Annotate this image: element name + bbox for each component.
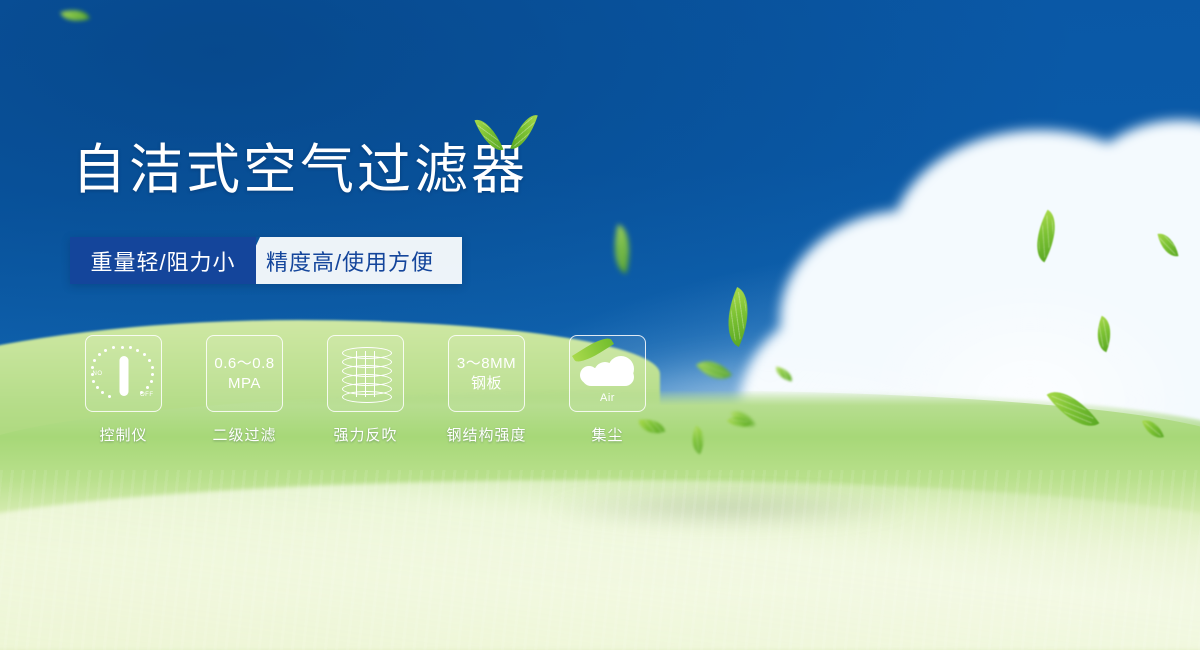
- feature-text-line1: 3～8MM: [457, 354, 516, 373]
- feature-item-dust[interactable]: Air 集尘: [565, 335, 650, 445]
- product-banner: 自洁式空气过滤器 重量轻/阻力小 精度高/使用方便: [0, 0, 1200, 650]
- feature-list: NO OFF 控制仪 0.6～0.8 MPA 二级过滤: [81, 335, 650, 445]
- feature-box: Air: [569, 335, 646, 412]
- feature-label: 控制仪: [99, 424, 147, 445]
- feature-text-line2: 钢板: [457, 374, 516, 393]
- feature-text-line1: 0.6～0.8: [214, 354, 274, 373]
- feature-box: NO OFF: [85, 335, 162, 412]
- grass-texture: [0, 470, 1200, 650]
- feature-item-backblow[interactable]: 强力反吹: [323, 335, 408, 445]
- gauge-off-label: OFF: [140, 392, 154, 398]
- feature-box-text: 0.6～0.8 MPA: [214, 354, 274, 392]
- air-label: Air: [578, 392, 638, 404]
- feature-label: 二级过滤: [212, 424, 276, 445]
- page-title: 自洁式空气过滤器: [72, 143, 528, 197]
- cloud-icon: Air: [578, 348, 638, 400]
- feature-label: 集尘: [591, 424, 623, 445]
- feature-label: 强力反吹: [333, 424, 397, 445]
- feature-item-filtration[interactable]: 0.6～0.8 MPA 二级过滤: [202, 335, 287, 445]
- feature-label: 钢结构强度: [446, 424, 526, 445]
- feature-box-text: 3～8MM 钢板: [457, 354, 516, 392]
- leaf-icon: [572, 335, 614, 366]
- feature-box: [327, 335, 404, 412]
- subtitle-right: 精度高/使用方便: [238, 237, 462, 284]
- subtitle-band: 重量轻/阻力小 精度高/使用方便: [70, 237, 462, 284]
- gauge-icon: NO OFF: [93, 343, 155, 405]
- feature-box: 0.6～0.8 MPA: [206, 335, 283, 412]
- subtitle-left: 重量轻/阻力小: [70, 237, 256, 284]
- feature-text-line2: MPA: [214, 374, 274, 393]
- feature-item-controller[interactable]: NO OFF 控制仪: [81, 335, 166, 445]
- coil-icon: [342, 347, 390, 401]
- feature-box: 3～8MM 钢板: [448, 335, 525, 412]
- gauge-no-label: NO: [93, 371, 103, 377]
- feature-item-steel[interactable]: 3～8MM 钢板 钢结构强度: [444, 335, 529, 445]
